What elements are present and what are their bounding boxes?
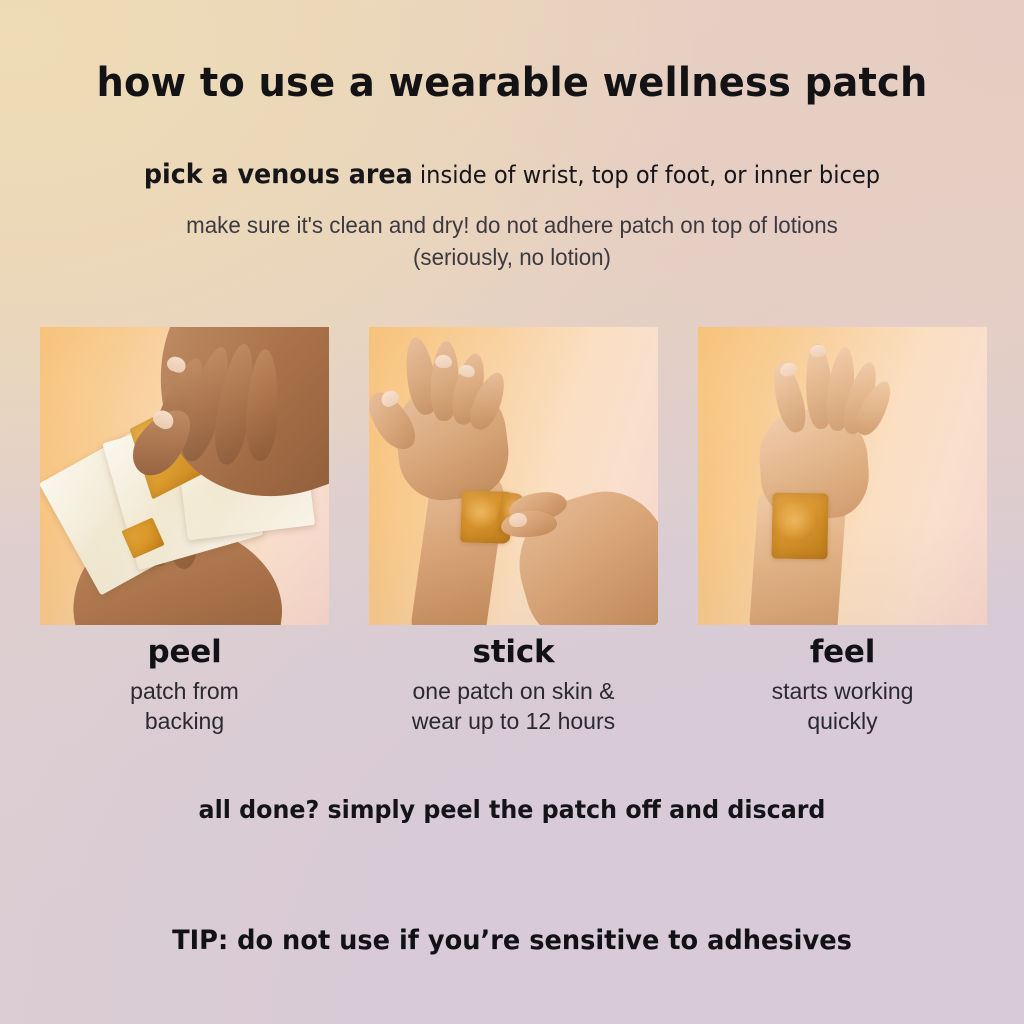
- adhesive-tip: TIP: do not use if you’re sensitive to a…: [26, 925, 999, 956]
- poster-canvas: how to use a wearable wellness patch pic…: [0, 0, 1024, 1024]
- removal-instruction: all done? simply peel the patch off and …: [26, 795, 999, 824]
- prep-note-line-2: (seriously, no lotion): [15, 242, 1008, 274]
- page-title: how to use a wearable wellness patch: [20, 60, 1003, 106]
- feel-patch-on-wrist: [771, 493, 828, 560]
- step-desc-peel-line-2: backing: [40, 706, 329, 736]
- feel-nail-1: [810, 345, 827, 358]
- lede-light: inside of wrist, top of foot, or inner b…: [413, 161, 880, 189]
- step-images: THE GOOD PATCH · THE GOOD PATCH · THE GO…: [40, 327, 987, 625]
- step-desc-feel-line-1: starts working: [698, 676, 987, 706]
- step-desc-stick-line-2: wear up to 12 hours: [369, 706, 658, 736]
- step-captions: peel patch from backing stick one patch …: [40, 636, 987, 736]
- lede-strong: pick a venous area: [144, 159, 413, 190]
- step-desc-stick: one patch on skin & wear up to 12 hours: [369, 676, 658, 737]
- step-desc-feel: starts working quickly: [698, 676, 987, 737]
- lede-line: pick a venous area inside of wrist, top …: [31, 159, 994, 190]
- stick-nail-2: [435, 354, 453, 368]
- step-word-peel: peel: [40, 636, 329, 669]
- prep-note-line-1: make sure it's clean and dry! do not adh…: [15, 210, 1008, 242]
- step-image-feel: [698, 327, 987, 625]
- step-word-feel: feel: [698, 636, 987, 669]
- step-word-stick: stick: [369, 636, 658, 669]
- step-caption-peel: peel patch from backing: [40, 636, 329, 736]
- step-desc-peel-line-1: patch from: [40, 676, 329, 706]
- step-image-stick: [369, 327, 658, 625]
- step-image-peel: THE GOOD PATCH · THE GOOD PATCH · THE GO…: [40, 327, 329, 625]
- step-caption-stick: stick one patch on skin & wear up to 12 …: [369, 636, 658, 736]
- step-caption-feel: feel starts working quickly: [698, 636, 987, 736]
- prep-note: make sure it's clean and dry! do not adh…: [15, 210, 1008, 273]
- step-desc-peel: patch from backing: [40, 676, 329, 737]
- step-desc-stick-line-1: one patch on skin &: [369, 676, 658, 706]
- step-desc-feel-line-2: quickly: [698, 706, 987, 736]
